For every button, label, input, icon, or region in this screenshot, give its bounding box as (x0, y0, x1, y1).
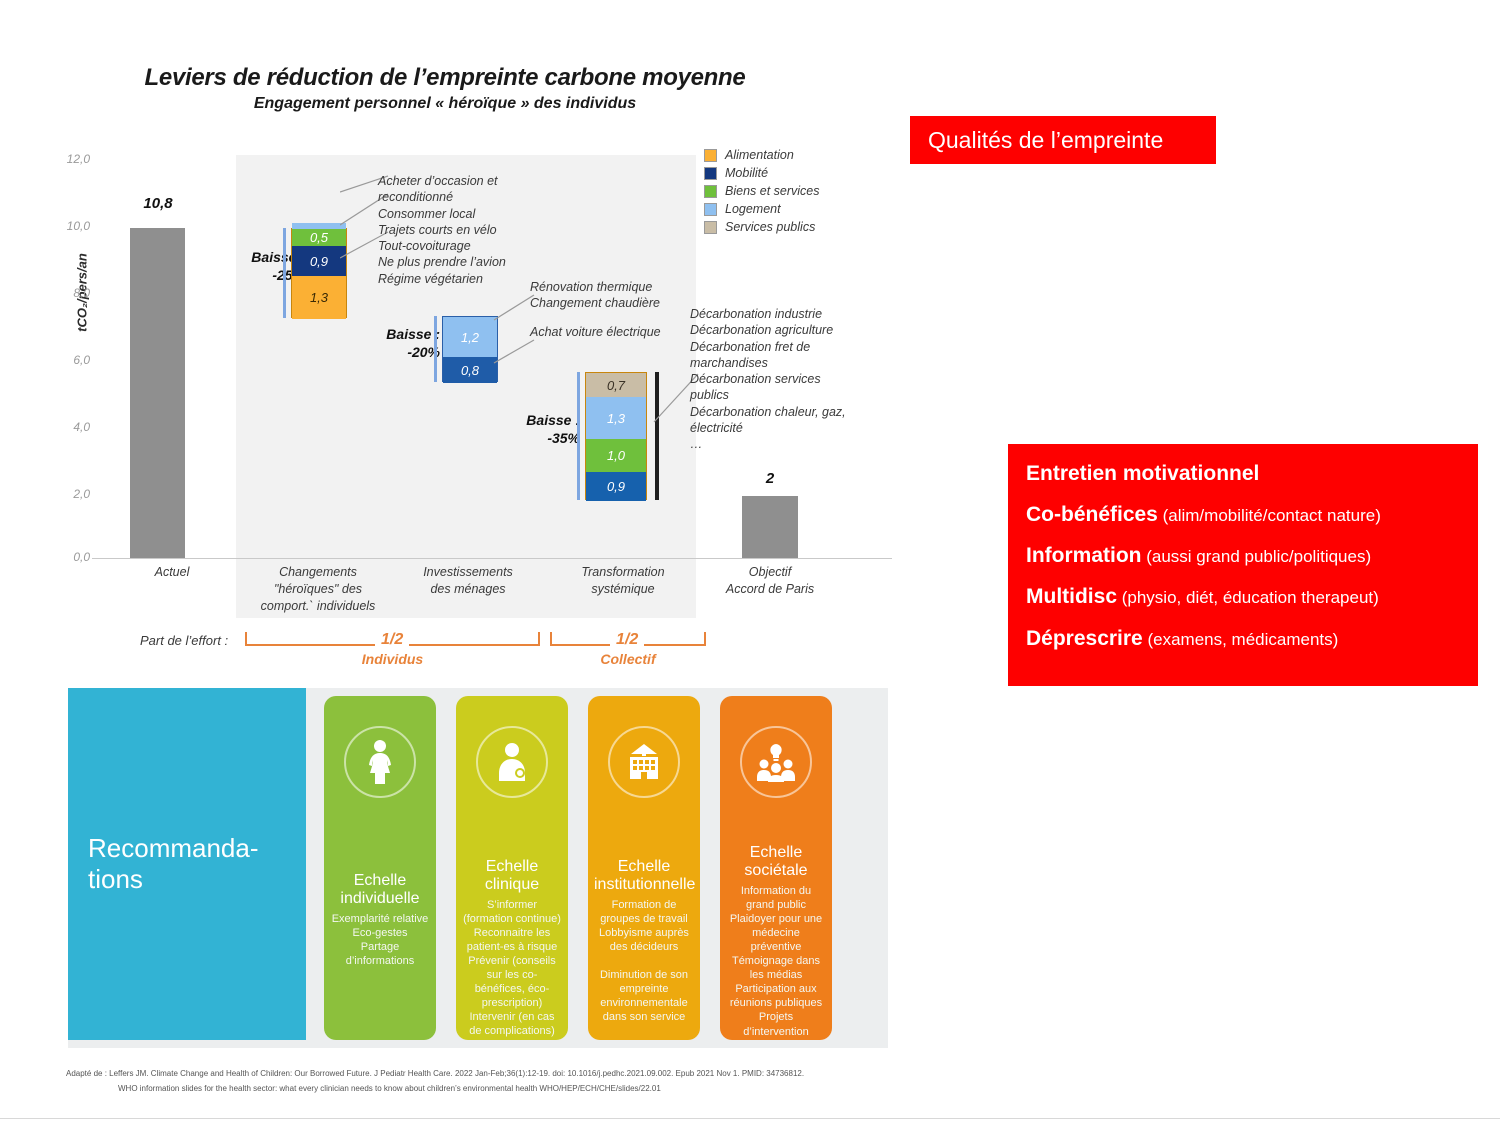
baisse-value-3: -35% (547, 430, 580, 446)
callout-line: reconditionné (378, 189, 578, 205)
callout-line: publics (690, 387, 880, 403)
legend-swatch-icon (704, 167, 717, 180)
community-glyph-icon (754, 742, 798, 782)
legend-label: Biens et services (725, 184, 819, 198)
legend-label: Mobilité (725, 166, 768, 180)
legend-item-alimentation: Alimentation (704, 148, 819, 162)
red-line-bold: Co-bénéfices (1026, 503, 1158, 526)
red-line-information: Information (aussi grand public/politiqu… (1026, 544, 1464, 568)
legend-swatch-icon (704, 185, 717, 198)
stack-bar-1: 0,5 0,9 1,3 (291, 228, 347, 318)
card-icon-wrap (324, 726, 436, 798)
card-title: Echelle institutionnelle (594, 858, 694, 895)
plot-area: tCO₂/pers/an 12,0 10,0 8,0 6,0 4,0 2,0 0… (0, 40, 870, 600)
segment-logement: 1,3 (586, 397, 646, 439)
source-citation: Adapté de : Leffers JM. Climate Change a… (66, 1066, 886, 1096)
legend-label: Alimentation (725, 148, 794, 162)
legend-item-biens-services: Biens et services (704, 184, 819, 198)
callout-line: Décarbonation industrie (690, 306, 880, 322)
red-line-cobenefices: Co-bénéfices (alim/mobilité/contact natu… (1026, 503, 1464, 527)
doctor-icon (476, 726, 548, 798)
segment-biens-services: 0,5 (292, 229, 346, 246)
title-line-1: Recommanda- (88, 833, 259, 863)
baisse-label-2: Baisse : -20% (360, 326, 440, 361)
x-label-actuel: Actuel (112, 564, 232, 581)
x-label-objectif: ObjectifAccord de Paris (700, 564, 840, 598)
callout-group-1: Acheter d’occasion et reconditionné Cons… (378, 173, 578, 287)
carbon-footprint-chart: Leviers de réduction de l’empreinte carb… (0, 40, 870, 600)
x-label-investissements: Investissementsdes ménages (398, 564, 538, 598)
card-icon-wrap (456, 726, 568, 798)
red-line-rest: (physio, diét, éducation therapeut) (1117, 588, 1379, 607)
stack-cap-1 (292, 223, 346, 229)
red-line-bold: Déprescrire (1026, 627, 1143, 650)
slide-image: Leviers de réduction de l’empreinte carb… (0, 0, 890, 1110)
segment-mobilite: 0,9 (292, 246, 346, 276)
card-recommandations-title: Recommanda- tions (68, 833, 279, 895)
red-line-bold: Multidisc (1026, 585, 1117, 608)
stack-rule-left-1 (283, 228, 286, 318)
recommendations-strip: Recommanda- tions Echelle individuelle E… (68, 688, 888, 1048)
baisse-word-2: Baisse : (386, 326, 440, 342)
callout-line: Achat voiture électrique (530, 324, 710, 340)
card-echelle-societale: Echelle sociétale Information du grand p… (720, 696, 832, 1040)
callout-line: Décarbonation agriculture (690, 322, 880, 338)
red-line-rest: (aussi grand public/politiques) (1142, 547, 1372, 566)
effort-bracket-individus: 1/2 (245, 632, 540, 646)
stack-bar-2: 1,2 0,8 (442, 316, 498, 382)
y-tick: 12,0 (46, 152, 90, 166)
segment-mobilite: 0,8 (443, 357, 497, 383)
callout-group-3: Décarbonation industrie Décarbonation ag… (690, 306, 880, 452)
callout-line: Décarbonation chaleur, gaz, (690, 404, 880, 420)
card-body: Information du grand publicPlaidoyer pou… (726, 884, 826, 1040)
effort-label: Part de l’effort : (140, 633, 228, 648)
legend-label: Logement (725, 202, 781, 216)
callout-line: Ne plus prendre l’avion (378, 254, 578, 270)
bar-value-objectif: 2 (715, 470, 825, 487)
card-title: Echelle individuelle (330, 872, 430, 909)
red-line-rest: (alim/mobilité/contact nature) (1158, 506, 1381, 525)
segment-mobilite: 0,9 (586, 472, 646, 501)
x-axis-line (92, 558, 892, 559)
slide-divider (0, 1118, 1500, 1119)
red-line-rest: (examens, médicaments) (1143, 630, 1339, 649)
card-recommandations: Recommanda- tions (68, 688, 306, 1040)
callout-line: Tout-covoiturage (378, 238, 578, 254)
red-line-bold: Entretien motivationnel (1026, 462, 1259, 485)
callout-line: Changement chaudière (530, 295, 710, 311)
segment-biens-services: 1,0 (586, 439, 646, 472)
red-line-multidisc: Multidisc (physio, diét, éducation thera… (1026, 585, 1464, 609)
effort-caption-collectif: Collectif (550, 651, 706, 667)
callout-group-2: Rénovation thermique Changement chaudièr… (530, 279, 710, 312)
callout-line: marchandises (690, 355, 880, 371)
bar-objectif (742, 496, 798, 558)
callout-group-2b: Achat voiture électrique (530, 324, 710, 340)
baisse-word-3: Baisse : (526, 412, 580, 428)
legend-swatch-icon (704, 149, 717, 162)
y-tick: 0,0 (46, 550, 90, 564)
person-icon (344, 726, 416, 798)
card-echelle-clinique: Echelle clinique S’informer (formation c… (456, 696, 568, 1040)
card-body: Exemplarité relativeEco-gestesPartage d’… (330, 912, 430, 968)
red-line-entretien: Entretien motivationnel (1026, 462, 1464, 486)
recommendations-red-box: Entretien motivationnel Co-bénéfices (al… (1008, 444, 1478, 686)
legend-swatch-icon (704, 203, 717, 216)
x-label-changements: Changements"héroïques" descomport.` indi… (248, 564, 388, 615)
callout-line: Rénovation thermique (530, 279, 710, 295)
card-title: Echelle sociétale (726, 844, 826, 881)
callout-line: Trajets courts en vélo (378, 222, 578, 238)
effort-fraction: 1/2 (375, 631, 409, 649)
hospital-glyph-icon (623, 742, 665, 782)
segment-logement: 1,2 (443, 317, 497, 357)
y-tick: 6,0 (46, 353, 90, 367)
card-echelle-institutionnelle: Echelle institutionnelle Formation de gr… (588, 696, 700, 1040)
effort-caption-individus: Individus (245, 651, 540, 667)
card-icon-wrap (720, 726, 832, 798)
person-glyph-icon (360, 738, 400, 786)
effort-fraction: 1/2 (610, 631, 644, 649)
chart-legend: Alimentation Mobilité Biens et services … (704, 148, 819, 238)
callout-line: Consommer local (378, 206, 578, 222)
effort-bracket-collectif: 1/2 (550, 632, 706, 646)
card-icon-wrap (588, 726, 700, 798)
stack-rule-left-2 (434, 316, 437, 382)
callout-line: Acheter d’occasion et (378, 173, 578, 189)
x-label-text: Actuel (112, 564, 232, 581)
card-title: Echelle clinique (462, 858, 562, 895)
legend-swatch-icon (704, 221, 717, 234)
card-body: S’informer (formation continue)Reconnait… (462, 898, 562, 1040)
hospital-icon (608, 726, 680, 798)
red-line-deprescrire: Déprescrire (examens, médicaments) (1026, 627, 1464, 651)
effort-row: Part de l’effort : 1/2 Individus 1/2 Col… (0, 625, 870, 685)
red-line-bold: Information (1026, 544, 1142, 567)
legend-item-services-publics: Services publics (704, 220, 819, 234)
bar-actuel (130, 228, 185, 558)
y-axis-ticks: 12,0 10,0 8,0 6,0 4,0 2,0 0,0 (46, 40, 90, 600)
bar-value-actuel: 10,8 (103, 195, 213, 212)
callout-line: Décarbonation fret de (690, 339, 880, 355)
card-body: Formation de groupes de travailLobbyisme… (594, 898, 694, 1025)
x-label-transformation: Transformationsystémique (548, 564, 698, 598)
stack-rule-left-3 (577, 372, 580, 500)
citation-line-2: WHO information slides for the health se… (66, 1081, 886, 1096)
citation-line-1: Adapté de : Leffers JM. Climate Change a… (66, 1069, 804, 1078)
callout-line: Décarbonation services (690, 371, 880, 387)
legend-label: Services publics (725, 220, 815, 234)
legend-item-logement: Logement (704, 202, 819, 216)
baisse-label-3: Baisse : -35% (500, 412, 580, 447)
qualites-de-lempreinte-box: Qualités de l’empreinte (910, 116, 1216, 164)
segment-alimentation: 1,3 (292, 276, 346, 319)
legend-item-mobilite: Mobilité (704, 166, 819, 180)
community-idea-icon (740, 726, 812, 798)
callout-line: … (690, 436, 880, 452)
segment-services-publics: 0,7 (586, 373, 646, 397)
qualites-title: Qualités de l’empreinte (928, 127, 1163, 154)
y-tick: 8,0 (46, 286, 90, 300)
title-line-2: tions (88, 864, 143, 894)
stack-bar-3: 0,7 1,3 1,0 0,9 (585, 372, 647, 500)
callout-line: électricité (690, 420, 880, 436)
y-tick: 4,0 (46, 420, 90, 434)
y-tick: 2,0 (46, 487, 90, 501)
doctor-glyph-icon (492, 740, 532, 784)
card-echelle-individuelle: Echelle individuelle Exemplarité relativ… (324, 696, 436, 1040)
y-tick: 10,0 (46, 219, 90, 233)
